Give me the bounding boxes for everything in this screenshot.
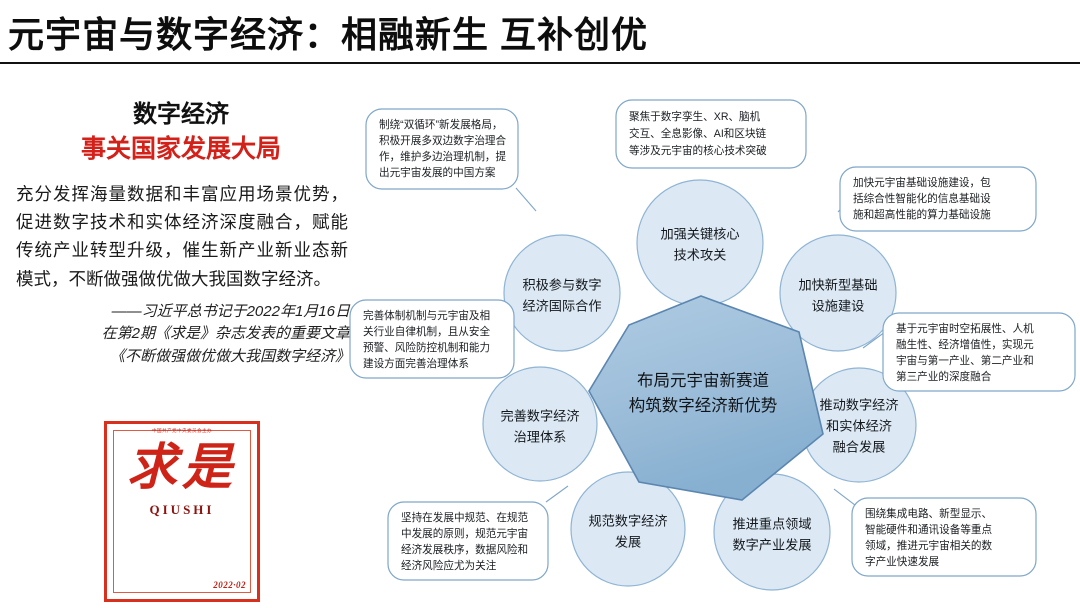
callout-integration[interactable]: 基于元宇宙时空拓展性、人机 融生性、经济增值性，实现元 宇宙与第一产业、第二产业… — [883, 313, 1075, 391]
qiushi-magazine-cover: 中国共产党中央委员会主办 求是 QIUSHI 2022·02 — [104, 421, 260, 602]
citation-line-2: 在第2期《求是》杂志发表的重要文章 — [8, 323, 350, 346]
magazine-publisher-line: 中国共产党中央委员会主办 — [107, 428, 257, 434]
callout-key-industry-line-1: 围绕集成电路、新型显示、 — [865, 507, 992, 520]
callout-regulate-line-3: 经济发展秩序，数据风险和 — [401, 543, 528, 556]
callout-core-tech[interactable]: 聚焦于数字孪生、XR、脑机 交互、全息影像、AI和区块链 等涉及元宇宙的核心技术… — [616, 100, 806, 168]
node-international[interactable]: 积极参与数字 经济国际合作 — [504, 235, 620, 351]
callout-integration-line-3: 宇宙与第一产业、第二产业和 — [896, 354, 1034, 367]
node-governance[interactable]: 完善数字经济 治理体系 — [483, 367, 597, 481]
connector-key-industry — [834, 489, 855, 505]
callout-governance-line-2: 关行业自律机制，且从安全 — [363, 325, 491, 338]
callout-key-industry-line-3: 领域，推进元宇宙相关的数 — [865, 539, 993, 552]
citation-line-3: 《不断做强做优做大我国数字经济》 — [8, 346, 350, 369]
hub-heptagon[interactable]: 布局元宇宙新赛道 构筑数字经济新优势 — [589, 296, 823, 500]
node-core-tech[interactable]: 加强关键核心 技术攻关 — [637, 180, 763, 306]
hub-label-line-1: 布局元宇宙新赛道 — [637, 370, 769, 390]
callout-governance-line-3: 预警、风险防控机制和能力 — [363, 341, 490, 354]
callout-integration-line-1: 基于元宇宙时空拓展性、人机 — [896, 322, 1034, 335]
node-international-label-1: 积极参与数字 — [522, 276, 601, 292]
node-international-label-2: 经济国际合作 — [522, 298, 601, 313]
magazine-pinyin: QIUSHI — [107, 502, 257, 518]
node-regulate-circle[interactable] — [571, 472, 685, 586]
callout-core-tech-line-1: 聚焦于数字孪生、XR、脑机 — [629, 110, 761, 123]
magazine-logo-text: 求是 — [107, 442, 257, 492]
lead-heading-accent: 事关国家发展大局 — [8, 133, 354, 166]
callout-international-line-1: 制绕“双循环”新发展格局， — [379, 118, 503, 131]
callout-new-infra-line-1: 加快元宇宙基础设施建设，包 — [853, 176, 991, 189]
callout-new-infra[interactable]: 加快元宇宙基础设施建设，包 括综合性智能化的信息基础设 施和超高性能的算力基础设… — [840, 167, 1036, 231]
node-core-tech-circle[interactable] — [637, 180, 763, 306]
node-core-tech-label-2: 技术攻关 — [674, 247, 727, 262]
node-new-infra-label-1: 加快新型基础 — [798, 277, 877, 292]
node-regulate-label-1: 规范数字经济 — [588, 513, 667, 528]
node-new-infra-label-2: 设施建设 — [812, 298, 865, 313]
page-title: 元宇宙与数字经济：相融新生 互补创优 — [8, 6, 1008, 58]
callout-core-tech-line-3: 等涉及元宇宙的核心技术突破 — [629, 144, 767, 157]
callout-key-industry-line-2: 智能硬件和通讯设备等重点 — [865, 523, 993, 536]
callout-international-line-2: 积极开展多双边数字治理合 — [379, 134, 507, 147]
magazine-issue-number: 2022·02 — [213, 580, 246, 590]
citation-line-1: ——习近平总书记于2022年1月16日 — [8, 301, 350, 324]
callout-key-industry-line-4: 字产业快速发展 — [865, 555, 940, 568]
callout-regulate-line-4: 经济风险应尤为关注 — [401, 559, 497, 572]
body-paragraph: 充分发挥海量数据和丰富应用场景优势，促进数字技术和实体经济深度融合，赋能传统产业… — [8, 180, 354, 293]
callout-integration-line-4: 第三产业的深度融合 — [896, 370, 992, 383]
node-key-industry-label-2: 数字产业发展 — [732, 537, 811, 552]
connector-international — [516, 188, 536, 211]
node-international-circle[interactable] — [504, 235, 620, 351]
callout-international[interactable]: 制绕“双循环”新发展格局， 积极开展多双边数字治理合 作，维护多边治理机制，提 … — [366, 109, 518, 189]
node-governance-label-1: 完善数字经济 — [500, 408, 579, 423]
metaverse-strategy-diagram: 加强关键核心 技术攻关 加快新型基础 设施建设 推动数字经济 和实体经济 融合发… — [340, 80, 1080, 608]
citation-block: ——习近平总书记于2022年1月16日 在第2期《求是》杂志发表的重要文章 《不… — [8, 301, 354, 369]
callout-regulate[interactable]: 坚持在发展中规范、在规范 中发展的原则，规范元宇宙 经济发展秩序，数据风险和 经… — [388, 502, 548, 580]
node-governance-label-2: 治理体系 — [514, 429, 567, 444]
callout-key-industry[interactable]: 围绕集成电路、新型显示、 智能硬件和通讯设备等重点 领域，推进元宇宙相关的数 字… — [852, 498, 1036, 576]
node-core-tech-label-1: 加强关键核心 — [660, 226, 739, 241]
callout-regulate-line-1: 坚持在发展中规范、在规范 — [401, 511, 529, 524]
node-integration-label-3: 融合发展 — [833, 439, 886, 454]
node-integration-label-1: 推动数字经济 — [819, 397, 898, 412]
callout-core-tech-line-2: 交互、全息影像、AI和区块链 — [629, 127, 767, 140]
callout-international-line-4: 出元宇宙发展的中国方案 — [379, 166, 496, 179]
title-divider — [0, 62, 1080, 64]
lead-heading-primary: 数字经济 — [8, 100, 354, 130]
node-governance-circle[interactable] — [483, 367, 597, 481]
callout-new-infra-line-3: 施和超高性能的算力基础设施 — [853, 208, 991, 221]
callout-new-infra-line-2: 括综合性智能化的信息基础设 — [853, 192, 991, 205]
callout-integration-line-2: 融生性、经济增值性，实现元 — [896, 338, 1034, 351]
callout-governance-line-4: 建设方面完善治理体系 — [363, 357, 469, 370]
connector-regulate — [546, 486, 568, 502]
callout-governance[interactable]: 完善体制机制与元宇宙及相 关行业自律机制，且从安全 预警、风险防控机制和能力 建… — [350, 300, 514, 378]
node-regulate[interactable]: 规范数字经济 发展 — [571, 472, 685, 586]
callout-international-line-3: 作，维护多边治理机制，提 — [379, 150, 507, 163]
left-text-panel: 数字经济 事关国家发展大局 充分发挥海量数据和丰富应用场景优势，促进数字技术和实… — [8, 100, 354, 368]
node-key-industry-label-1: 推进重点领域 — [732, 516, 811, 531]
callout-governance-line-1: 完善体制机制与元宇宙及相 — [363, 309, 490, 322]
node-integration-label-2: 和实体经济 — [826, 418, 892, 433]
callout-regulate-line-2: 中发展的原则，规范元宇宙 — [401, 527, 528, 540]
node-regulate-label-2: 发展 — [615, 534, 641, 549]
hub-label-line-2: 构筑数字经济新优势 — [629, 396, 778, 415]
